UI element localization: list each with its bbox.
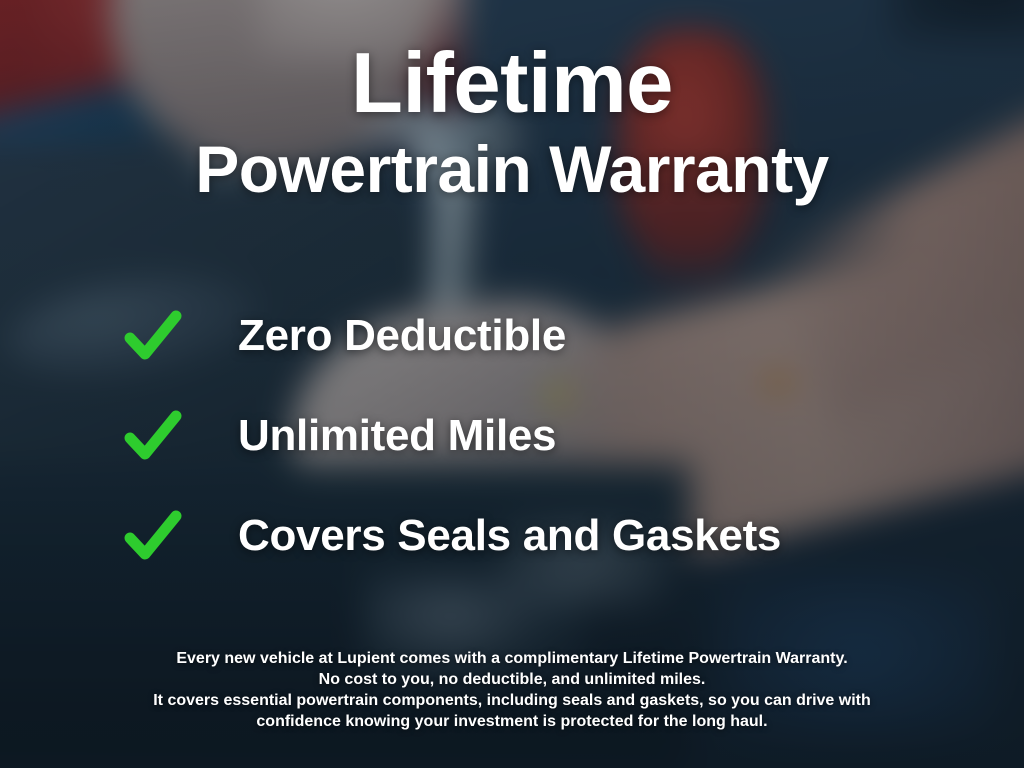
- benefit-label: Zero Deductible: [238, 311, 566, 361]
- body-paragraph-line: It covers essential powertrain component…: [60, 690, 964, 711]
- body-paragraph-line: confidence knowing your investment is pr…: [60, 711, 964, 732]
- check-icon: [124, 407, 182, 465]
- body-paragraph-line: No cost to you, no deductible, and unlim…: [60, 669, 964, 690]
- benefit-label: Unlimited Miles: [238, 411, 556, 461]
- list-item: Unlimited Miles: [124, 386, 984, 486]
- check-icon: [124, 307, 182, 365]
- banner-content: Lifetime Powertrain Warranty Zero Deduct…: [0, 0, 1024, 768]
- page-title: Lifetime Powertrain Warranty: [0, 42, 1024, 202]
- body-paragraph-line: Every new vehicle at Lupient comes with …: [60, 648, 964, 669]
- warranty-promo-banner: Lifetime Powertrain Warranty Zero Deduct…: [0, 0, 1024, 768]
- list-item: Covers Seals and Gaskets: [124, 486, 984, 586]
- benefit-label: Covers Seals and Gaskets: [238, 511, 781, 561]
- check-icon: [124, 507, 182, 565]
- benefits-list: Zero Deductible Unlimited Miles Covers S…: [124, 286, 984, 586]
- headline-line-2: Powertrain Warranty: [0, 137, 1024, 202]
- headline-line-1: Lifetime: [0, 42, 1024, 125]
- body-paragraph: Every new vehicle at Lupient comes with …: [0, 648, 1024, 732]
- list-item: Zero Deductible: [124, 286, 984, 386]
